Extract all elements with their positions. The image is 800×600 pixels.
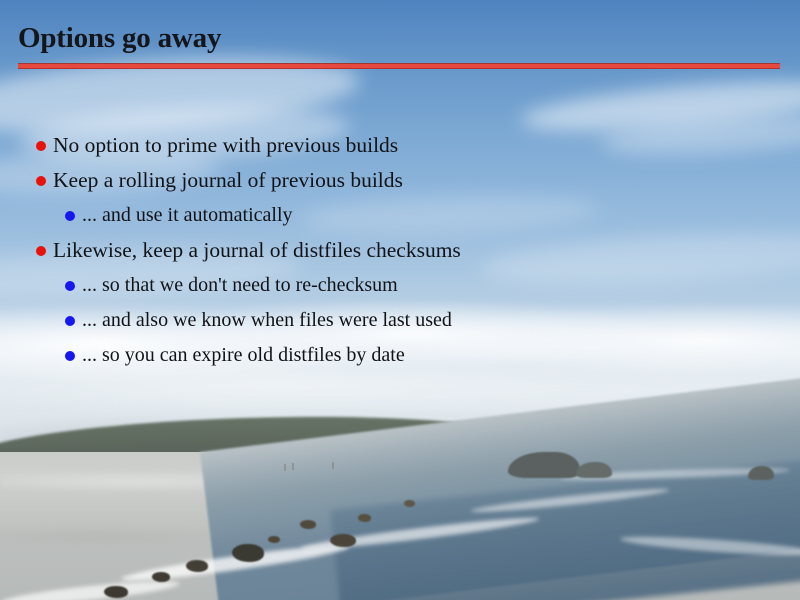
bullet-text: ... so that we don't need to re-checksum — [0, 268, 800, 303]
bullet-dot-red-icon — [36, 176, 46, 186]
bullet-item-level2: ... so that we don't need to re-checksum — [0, 268, 800, 303]
slide-title: Options go away — [18, 22, 221, 55]
distant-figure — [332, 462, 334, 469]
bullet-item-level1: No option to prime with previous builds — [0, 128, 800, 163]
distant-figure — [292, 463, 294, 470]
sea-rock — [576, 462, 612, 478]
distant-figure — [284, 464, 286, 471]
bullet-item-level1: Likewise, keep a journal of distfiles ch… — [0, 233, 800, 268]
bullet-dot-red-icon — [36, 246, 46, 256]
bullet-text: No option to prime with previous builds — [0, 128, 800, 163]
bullet-item-level2: ... so you can expire old distfiles by d… — [0, 338, 800, 373]
shore-rock — [232, 544, 264, 562]
shore-rock — [152, 572, 170, 582]
shore-rock — [358, 514, 371, 522]
bullet-text: ... and use it automatically — [0, 198, 800, 233]
bullet-dot-blue-icon — [65, 316, 75, 326]
presentation-slide: Options go away No option to prime with … — [0, 0, 800, 600]
bullet-dot-red-icon — [36, 141, 46, 151]
bullet-item-level1: Keep a rolling journal of previous build… — [0, 163, 800, 198]
bullet-text: ... so you can expire old distfiles by d… — [0, 338, 800, 373]
bullet-dot-blue-icon — [65, 351, 75, 361]
bullet-text: Keep a rolling journal of previous build… — [0, 163, 800, 198]
shore-rock — [186, 560, 208, 572]
title-underline-rule — [18, 64, 780, 68]
shore-rock — [300, 520, 316, 529]
bullet-item-level2: ... and also we know when files were las… — [0, 303, 800, 338]
bullet-text: Likewise, keep a journal of distfiles ch… — [0, 233, 800, 268]
shore-rock — [268, 536, 280, 543]
bullet-list: No option to prime with previous builds … — [0, 128, 800, 373]
bullet-item-level2: ... and use it automatically — [0, 198, 800, 233]
shore-rock — [330, 534, 356, 547]
bullet-dot-blue-icon — [65, 211, 75, 221]
shore-rock — [404, 500, 415, 507]
shore-rock — [104, 586, 128, 598]
bullet-dot-blue-icon — [65, 281, 75, 291]
bullet-text: ... and also we know when files were las… — [0, 303, 800, 338]
sea-stack — [748, 466, 774, 480]
